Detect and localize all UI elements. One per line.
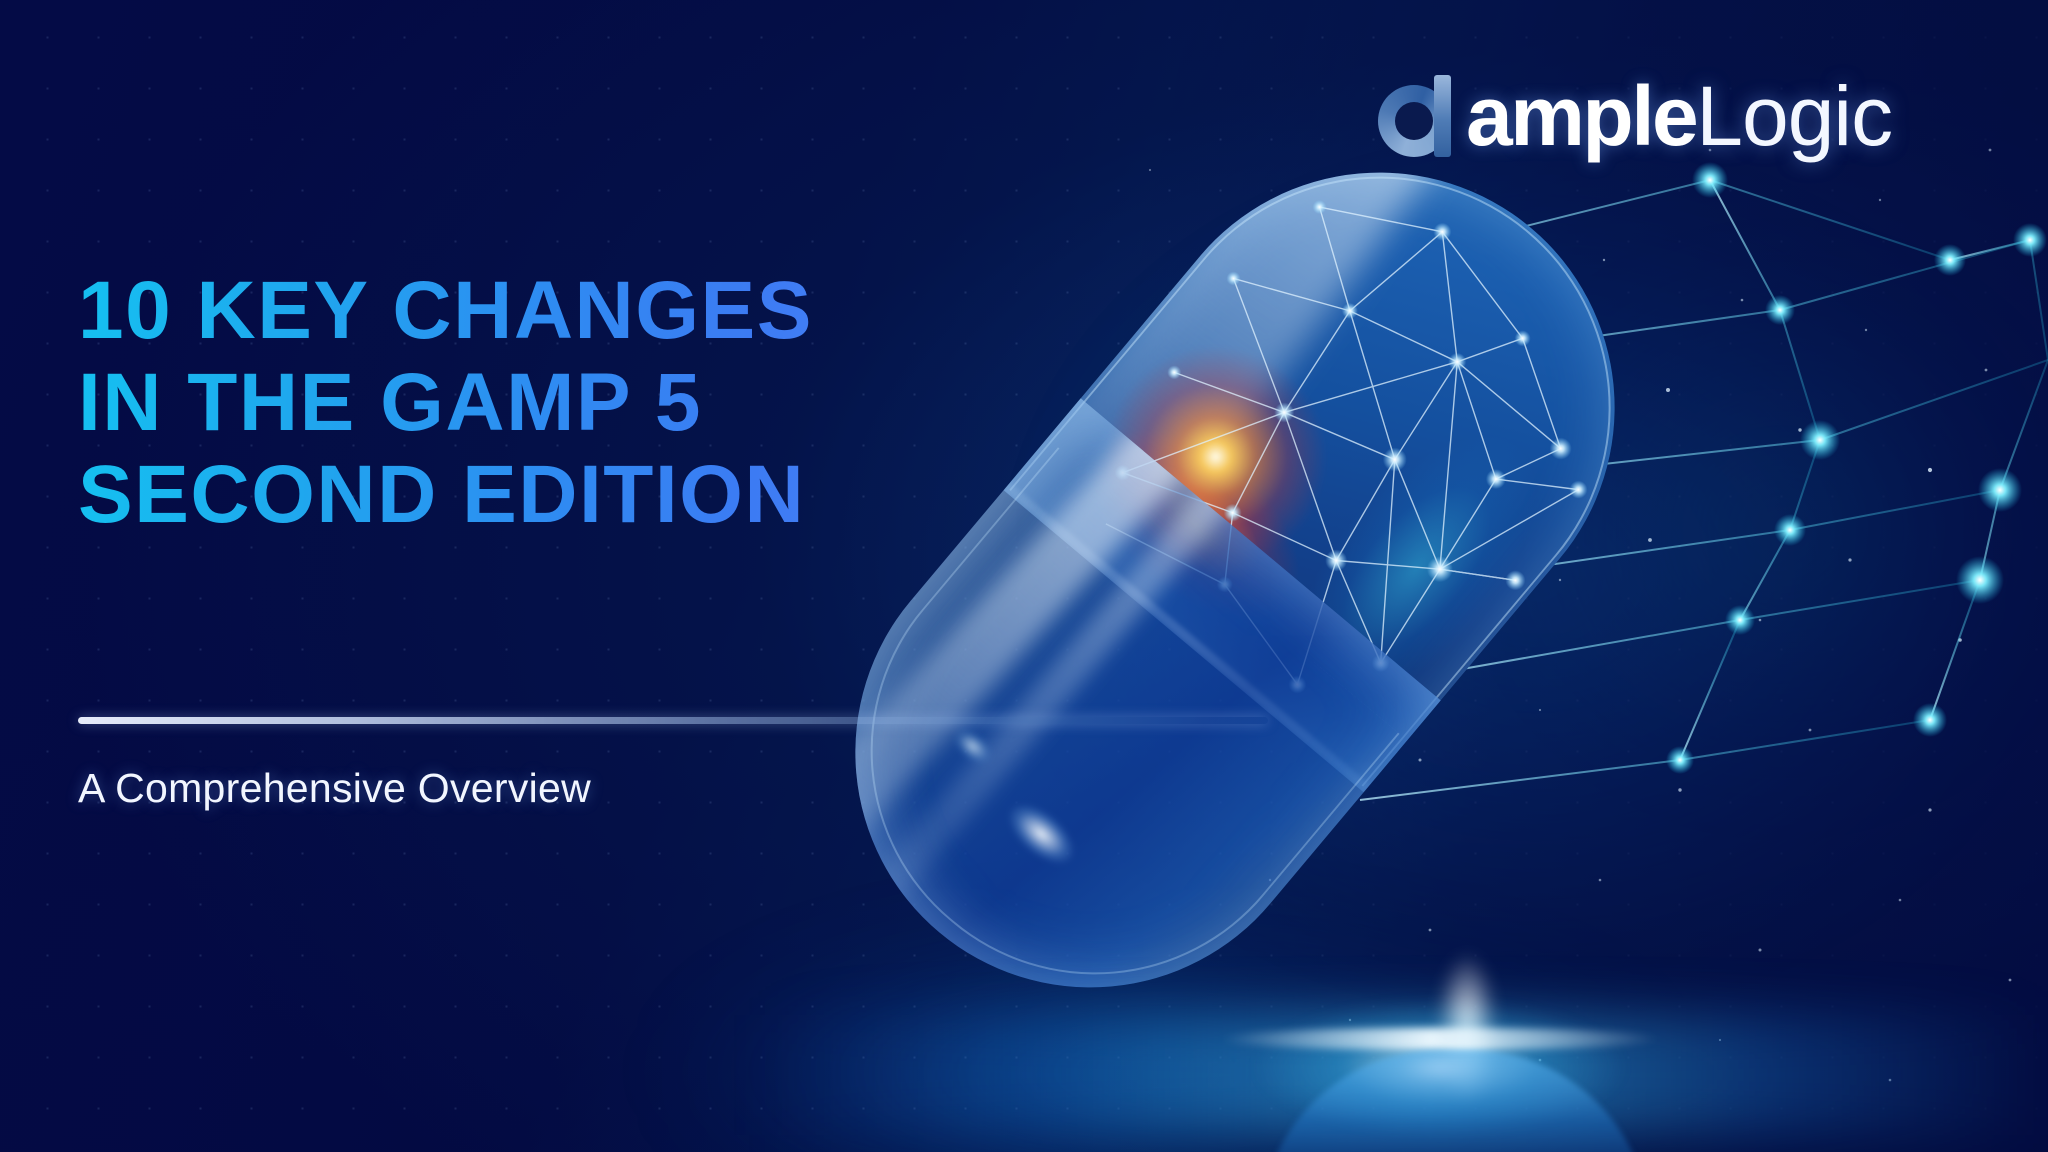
starburst-horizontal	[1220, 1028, 1660, 1050]
page-title: 10 KEY CHANGES IN THE GAMP 5 SECOND EDIT…	[78, 268, 938, 544]
headline-line-1: 10 KEY CHANGES	[78, 268, 938, 354]
title-divider	[78, 717, 1268, 724]
poster-canvas: ample Logic 10 KEY CHANGES IN THE GAMP 5…	[0, 0, 2048, 1152]
headline-line-2: IN THE GAMP 5	[78, 360, 938, 446]
brand-name-light: Logic	[1696, 79, 1892, 155]
ample-a-mark-icon	[1378, 71, 1464, 163]
headline-line-3: SECOND EDITION	[78, 452, 938, 538]
brand-logo[interactable]: ample Logic	[1378, 62, 1892, 172]
brand-name-bold: ample	[1466, 79, 1696, 155]
page-subtitle: A Comprehensive Overview	[78, 765, 591, 812]
capsule-illustration	[700, 60, 2048, 1152]
